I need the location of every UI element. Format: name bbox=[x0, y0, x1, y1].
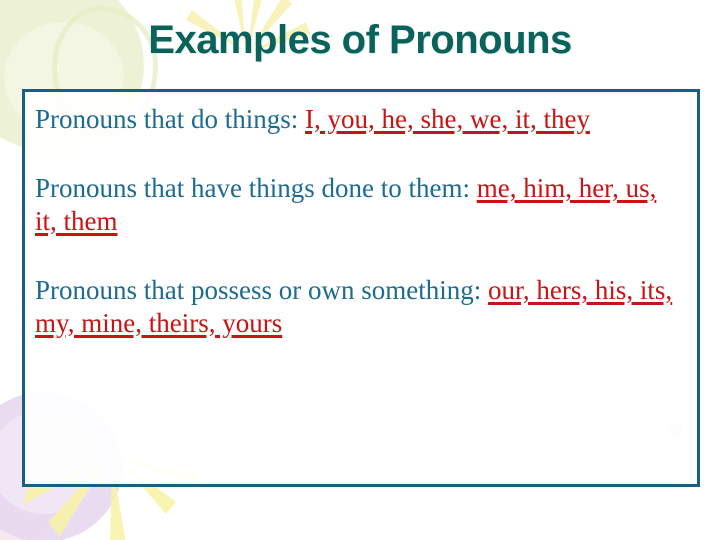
paragraph-lead-text: Pronouns that possess or own something: bbox=[35, 275, 488, 305]
page-title: Examples of Pronouns bbox=[0, 18, 720, 63]
paragraph-lead-text: Pronouns that do things: bbox=[35, 104, 305, 134]
slide: Examples of Pronouns Pronouns that do th… bbox=[0, 0, 720, 540]
content-box: Pronouns that do things: I, you, he, she… bbox=[22, 89, 700, 487]
paragraph-object-pronouns: Pronouns that have things done to them: … bbox=[35, 172, 683, 237]
pronoun-list-subject: I, you, he, she, we, it, they bbox=[305, 104, 590, 134]
paragraph-lead-text: Pronouns that have things done to them: bbox=[35, 173, 477, 203]
paragraph-subject-pronouns: Pronouns that do things: I, you, he, she… bbox=[35, 103, 683, 135]
paragraph-possessive-pronouns: Pronouns that possess or own something: … bbox=[35, 274, 683, 339]
